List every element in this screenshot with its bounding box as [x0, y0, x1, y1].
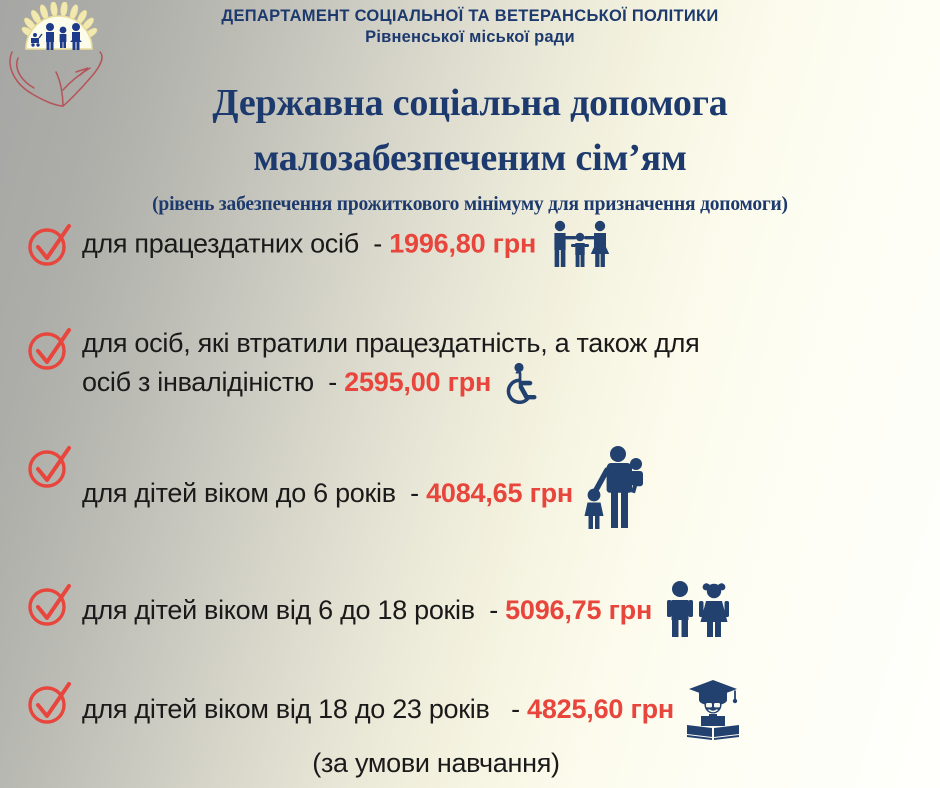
- check-circle-icon: [26, 680, 72, 726]
- boy-and-girl-icon: [663, 580, 731, 638]
- list-item-amount: 4084,65 грн: [426, 478, 573, 508]
- infographic-poster: ДЕПАРТАМЕНТ СОЦІАЛЬНОЇ ТА ВЕТЕРАНСЬКОЇ П…: [0, 0, 940, 788]
- list-item: для працездатних осіб - 1996,80 грн: [0, 218, 940, 278]
- list-item-text: для дітей віком до 6 років - 4084,65 грн: [82, 440, 940, 548]
- list-item-amount: 1996,80 грн: [389, 229, 536, 259]
- list-item-amount: 4825,60 грн: [527, 694, 674, 724]
- list-item-note: (за умови навчання): [82, 744, 940, 782]
- list-item: для осіб, які втратили працездатність, а…: [0, 322, 940, 406]
- list-item-label: для дітей віком від 18 до 23 років: [82, 694, 490, 724]
- list-item-label: для дітей віком від 6 до 18 років: [82, 595, 475, 625]
- list-item-label: для осіб, які втратили працездатність, а…: [82, 328, 699, 358]
- list-item-amount: 5096,75 грн: [505, 595, 652, 625]
- department-name-line2: Рівненської міської ради: [130, 27, 810, 48]
- list-item-text: для дітей віком від 18 до 23 років - 482…: [82, 676, 940, 782]
- page-title: Державна соціальна допомога малозабезпеч…: [0, 76, 940, 217]
- list-item-dash: -: [511, 694, 520, 724]
- benefit-list: для працездатних осіб - 1996,80 грн: [0, 212, 940, 783]
- list-item-amount: 2595,00 грн: [344, 367, 491, 397]
- list-item-label: для дітей віком до 6 років: [82, 478, 396, 508]
- list-item-label-line2: осіб з інвалідіністю: [82, 367, 314, 397]
- list-item: для дітей віком від 6 до 18 років - 5096…: [0, 578, 940, 644]
- list-item: для дітей віком від 18 до 23 років - 482…: [0, 676, 940, 782]
- title-line-2: малозабезпеченим сім’ям: [0, 131, 940, 186]
- list-item-text: для осіб, які втратили працездатність, а…: [82, 322, 940, 406]
- check-circle-icon: [26, 582, 72, 628]
- department-header: ДЕПАРТАМЕНТ СОЦІАЛЬНОЇ ТА ВЕТЕРАНСЬКОЇ П…: [130, 6, 810, 48]
- list-item-dash: -: [328, 367, 337, 397]
- list-item: для дітей віком до 6 років - 4084,65 грн: [0, 440, 940, 548]
- list-item-dash: -: [489, 595, 498, 625]
- list-item-text: для дітей віком від 6 до 18 років - 5096…: [82, 578, 940, 644]
- mother-and-children-icon: [584, 442, 646, 530]
- graduate-icon: [685, 678, 741, 740]
- department-name-line1: ДЕПАРТАМЕНТ СОЦІАЛЬНОЇ ТА ВЕТЕРАНСЬКОЇ П…: [130, 6, 810, 27]
- list-item-text: для працездатних осіб - 1996,80 грн: [82, 218, 940, 271]
- check-circle-icon: [26, 326, 72, 372]
- family-icon: [547, 220, 613, 268]
- wheelchair-icon: [502, 362, 542, 404]
- check-circle-icon: [26, 222, 72, 268]
- list-item-label: для працездатних осіб: [82, 229, 359, 259]
- list-item-dash: -: [410, 478, 419, 508]
- list-item-dash: -: [373, 229, 382, 259]
- title-line-1: Державна соціальна допомога: [0, 76, 940, 131]
- check-circle-icon: [26, 444, 72, 490]
